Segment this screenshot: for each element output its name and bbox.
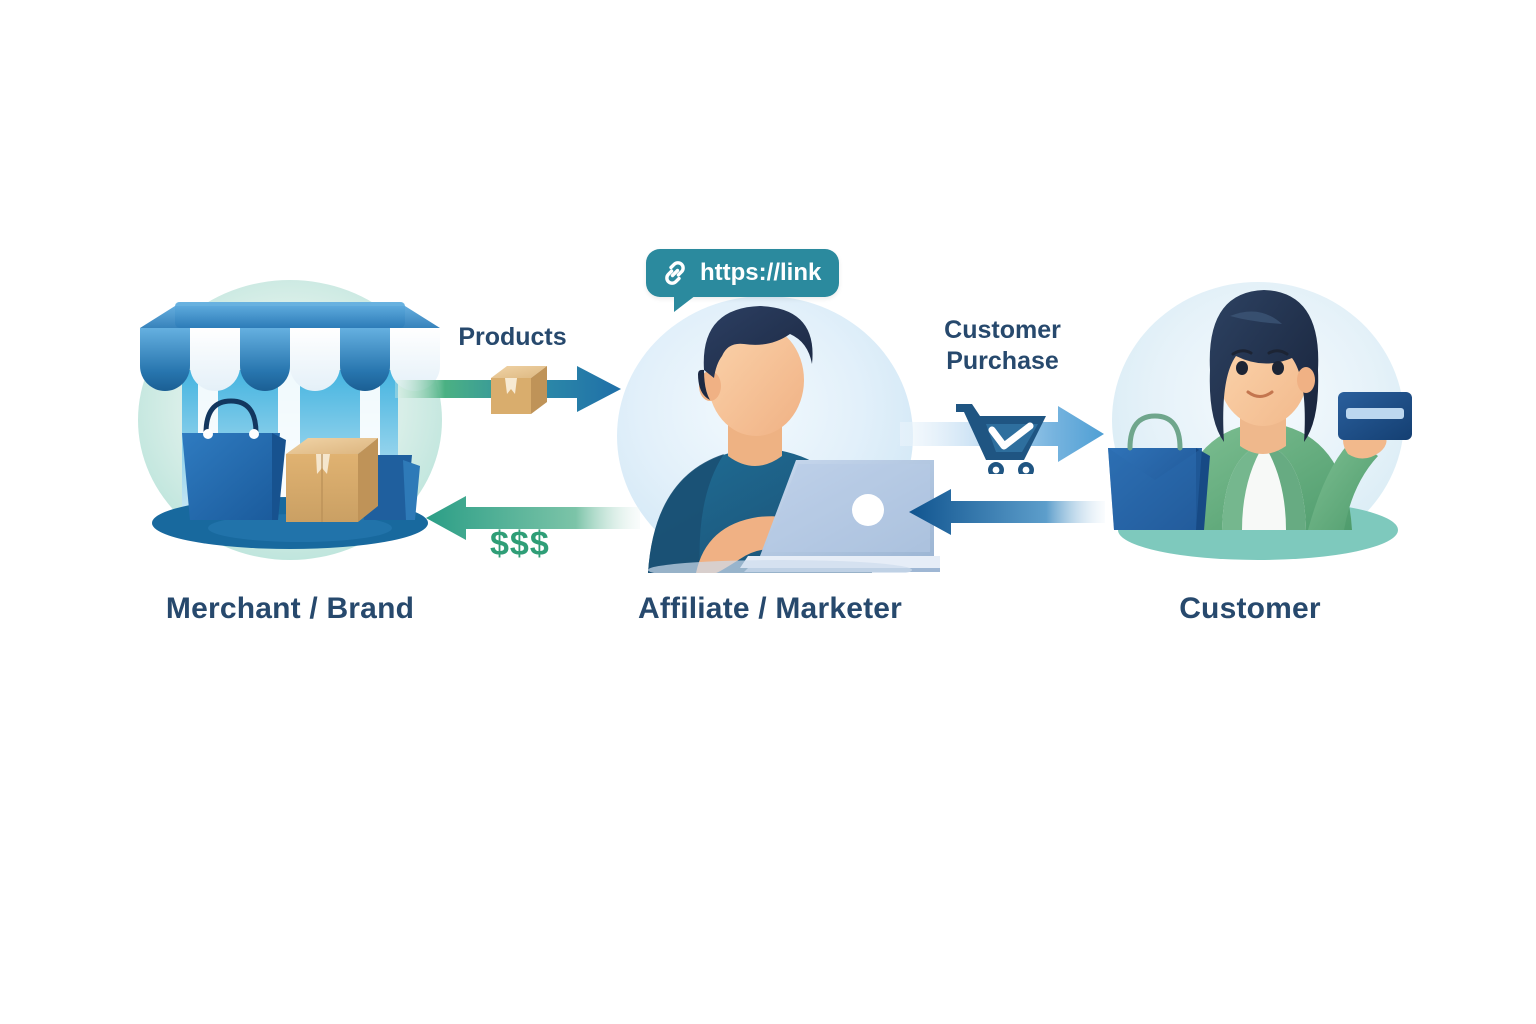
flow-products-arrow [395,358,630,420]
badge-tail [674,292,700,312]
customer-label: Customer [1095,592,1405,626]
person-card-icon [1090,280,1420,570]
affiliate-link-text: https://link [700,259,821,287]
person-laptop-icon [600,288,940,573]
merchant-label: Merchant / Brand [120,592,460,626]
affiliate-scene [600,288,940,573]
flow-customer-purchase-label-line1: Customer [944,316,1061,344]
package-box-icon [491,366,547,414]
flow-products-label: Products [395,322,630,353]
customer-scene [1090,280,1420,570]
affiliate-link-badge[interactable]: https://link [646,249,839,297]
flow-customer-purchase-arrow [900,398,1110,474]
flow-commission-label: $$$ [490,525,550,564]
affiliate-label: Affiliate / Marketer [595,592,945,626]
flow-customer-purchase-label-line2: Purchase [946,347,1059,375]
merchant-scene [120,270,460,570]
flow-referral-return-arrow [905,488,1105,536]
chain-link-icon [660,258,690,288]
flow-customer-purchase-label: CustomerPurchase [900,315,1105,378]
storefront-icon [120,270,460,570]
diagram-canvas: Merchant / Brand [0,0,1536,1024]
